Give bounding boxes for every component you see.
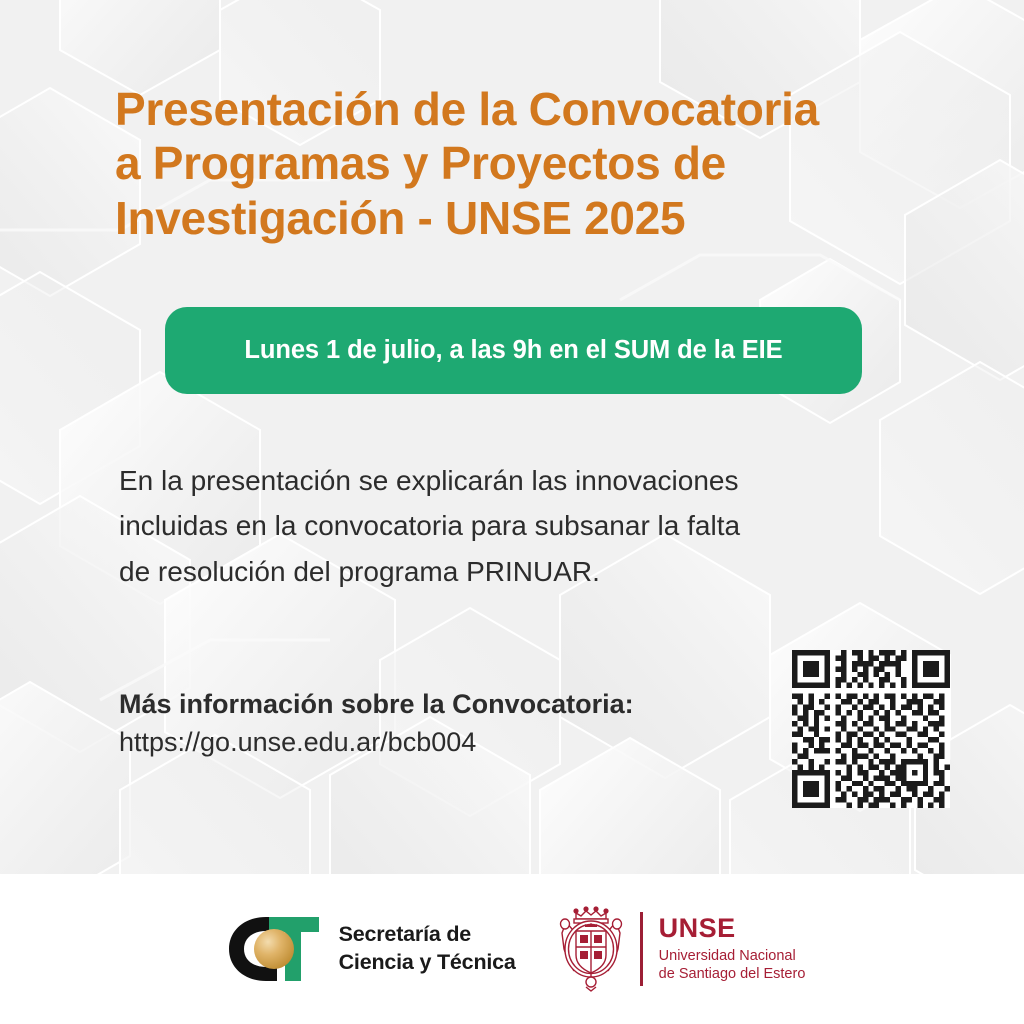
date-venue-banner: Lunes 1 de julio, a las 9h en el SUM de …: [165, 307, 862, 394]
date-venue-label: Lunes 1 de julio, a las 9h en el SUM de …: [244, 336, 782, 365]
poster-canvas: Presentación de la Convocatoria a Progra…: [0, 0, 1024, 1024]
title-line-2: a Programas y Proyectos de: [115, 136, 945, 190]
sct-line-2: Ciencia y Técnica: [339, 949, 516, 977]
more-info-url[interactable]: https://go.unse.edu.ar/bcb004: [119, 722, 759, 763]
unse-subtitle: Universidad Nacional de Santiago del Est…: [659, 947, 806, 985]
body-line-1: En la presentación se explicarán las inn…: [119, 458, 879, 503]
body-line-2: incluidas en la convocatoria para subsan…: [119, 503, 879, 548]
unse-acronym: UNSE: [659, 914, 806, 944]
body-paragraph: En la presentación se explicarán las inn…: [119, 458, 879, 594]
title-line-1: Presentación de la Convocatoria: [115, 82, 945, 136]
sct-logo-text: Secretaría de Ciencia y Técnica: [339, 921, 516, 976]
title-line-3: Investigación - UNSE 2025: [115, 191, 945, 245]
unse-logo: UNSE Universidad Nacional de Santiago de…: [552, 903, 806, 995]
unse-logo-text: UNSE Universidad Nacional de Santiago de…: [659, 914, 806, 984]
more-info-heading: Más información sobre la Convocatoria:: [119, 686, 759, 722]
poster-title: Presentación de la Convocatoria a Progra…: [115, 82, 945, 245]
unse-coat-of-arms-icon: [552, 903, 630, 995]
unse-sub-line-2: de Santiago del Estero: [659, 965, 806, 984]
unse-sub-line-1: Universidad Nacional: [659, 947, 806, 966]
qr-code-icon[interactable]: [792, 650, 950, 808]
footer-logo-strip: Secretaría de Ciencia y Técnica: [0, 874, 1024, 1024]
body-line-3: de resolución del programa PRINUAR.: [119, 549, 879, 594]
sct-logo: Secretaría de Ciencia y Técnica: [219, 913, 516, 985]
cot-monogram-icon: [219, 913, 325, 985]
more-info-block: Más información sobre la Convocatoria: h…: [119, 686, 759, 763]
sct-line-1: Secretaría de: [339, 921, 516, 949]
unse-logo-divider: [640, 912, 643, 986]
